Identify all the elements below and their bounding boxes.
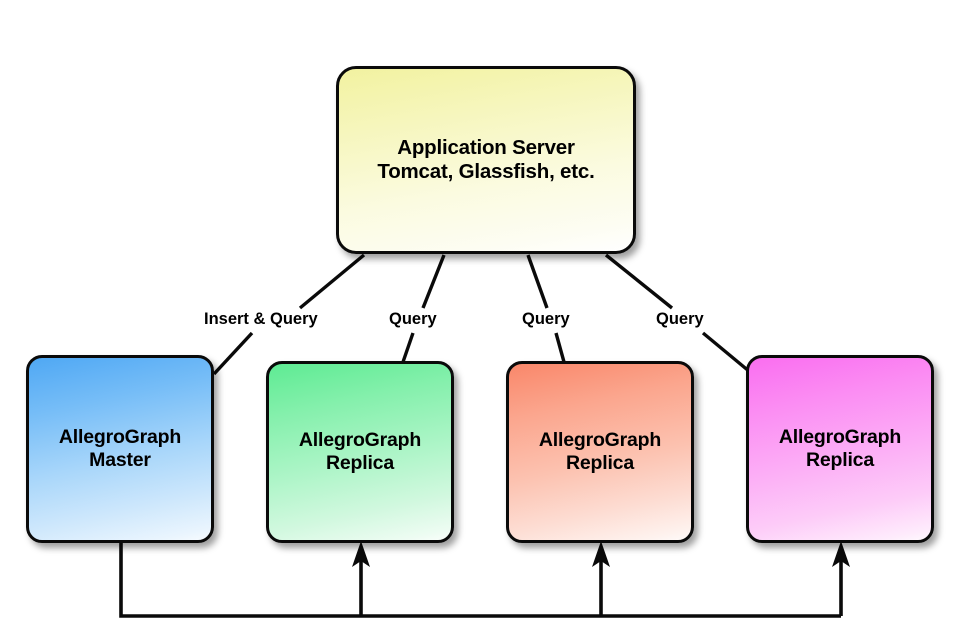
edge-line-replica-2-lower	[556, 333, 564, 362]
edge-label-query-replica-1: Query	[386, 310, 440, 329]
edge-line-master-upper	[300, 255, 364, 308]
node-application-server[interactable]: Application Server Tomcat, Glassfish, et…	[336, 66, 636, 254]
node-allegrograph-master[interactable]: AllegroGraph Master	[26, 355, 214, 543]
node-allegrograph-master-label: AllegroGraph Master	[59, 426, 181, 472]
node-allegrograph-replica-2-label: AllegroGraph Replica	[539, 429, 661, 475]
edge-label-query-replica-2: Query	[519, 310, 573, 329]
edge-line-replica-3-lower	[703, 333, 750, 372]
node-application-server-label: Application Server Tomcat, Glassfish, et…	[377, 136, 594, 184]
edge-line-replica-1-upper	[423, 255, 444, 308]
edge-label-insert-and-query: Insert & Query	[201, 310, 321, 329]
node-allegrograph-replica-3[interactable]: AllegroGraph Replica	[746, 355, 934, 543]
node-allegrograph-replica-1-label: AllegroGraph Replica	[299, 429, 421, 475]
edge-line-replica-3-upper	[606, 255, 672, 308]
replication-bus-path	[121, 543, 841, 616]
node-allegrograph-replica-2[interactable]: AllegroGraph Replica	[506, 361, 694, 543]
edge-label-query-replica-3: Query	[653, 310, 707, 329]
node-allegrograph-replica-3-label: AllegroGraph Replica	[779, 426, 901, 472]
edge-line-replica-1-lower	[403, 333, 413, 362]
diagram-canvas: Application Server Tomcat, Glassfish, et…	[0, 0, 962, 637]
edge-line-replica-2-upper	[528, 255, 547, 308]
edge-line-master-lower	[214, 333, 252, 374]
node-allegrograph-replica-1[interactable]: AllegroGraph Replica	[266, 361, 454, 543]
